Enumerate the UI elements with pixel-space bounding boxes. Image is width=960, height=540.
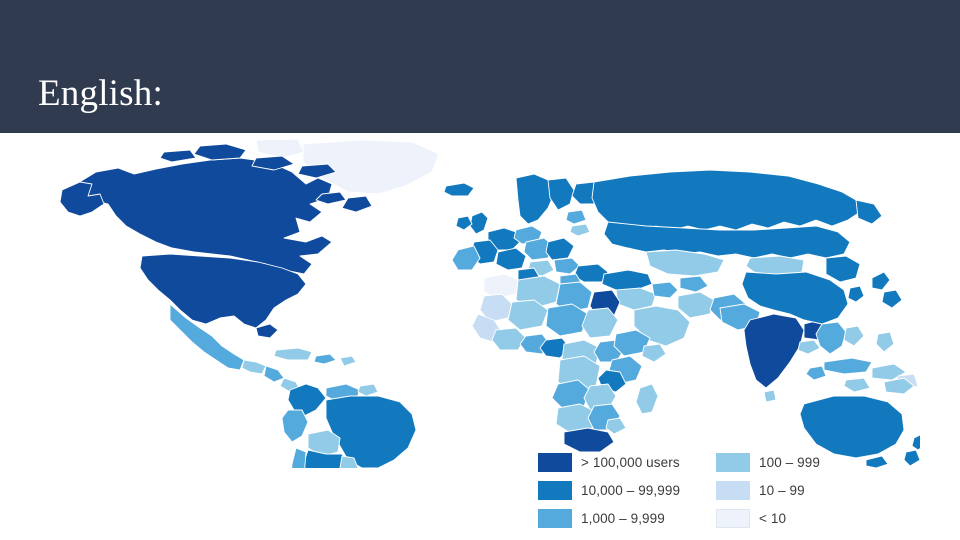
- world-choropleth-map: .c { stroke:#ffffff; stroke-width:0.9; s…: [60, 138, 920, 468]
- region-russia-central-asia: [592, 170, 882, 282]
- slide-header: English: The Global Language: [0, 0, 960, 133]
- legend-item-label: < 10: [759, 511, 786, 526]
- slide-root: English: The Global Language .c { stroke…: [0, 0, 960, 540]
- legend-swatch-icon: [538, 453, 572, 472]
- map-legend: > 100,000 users 10,000 – 99,999 1,000 – …: [538, 452, 868, 536]
- legend-swatch-icon: [716, 509, 750, 528]
- legend-item-label: 1,000 – 9,999: [581, 511, 665, 526]
- legend-item-label: > 100,000 users: [581, 455, 680, 470]
- legend-swatch-icon: [538, 481, 572, 500]
- page-title-line-1: English:: [38, 70, 364, 117]
- legend-item[interactable]: 1,000 – 9,999: [538, 508, 680, 528]
- legend-swatch-icon: [716, 453, 750, 472]
- legend-item[interactable]: > 100,000 users: [538, 452, 680, 472]
- legend-item[interactable]: < 10: [716, 508, 820, 528]
- legend-item[interactable]: 10 – 99: [716, 480, 820, 500]
- legend-swatch-icon: [716, 481, 750, 500]
- legend-swatch-icon: [538, 509, 572, 528]
- legend-item[interactable]: 100 – 999: [716, 452, 820, 472]
- legend-column-right: 100 – 999 10 – 99 < 10: [716, 452, 820, 536]
- region-south-america: [282, 384, 416, 468]
- legend-item-label: 10 – 99: [759, 483, 805, 498]
- legend-item-label: 10,000 – 99,999: [581, 483, 680, 498]
- legend-item[interactable]: 10,000 – 99,999: [538, 480, 680, 500]
- legend-item-label: 100 – 999: [759, 455, 820, 470]
- legend-column-left: > 100,000 users 10,000 – 99,999 1,000 – …: [538, 452, 680, 536]
